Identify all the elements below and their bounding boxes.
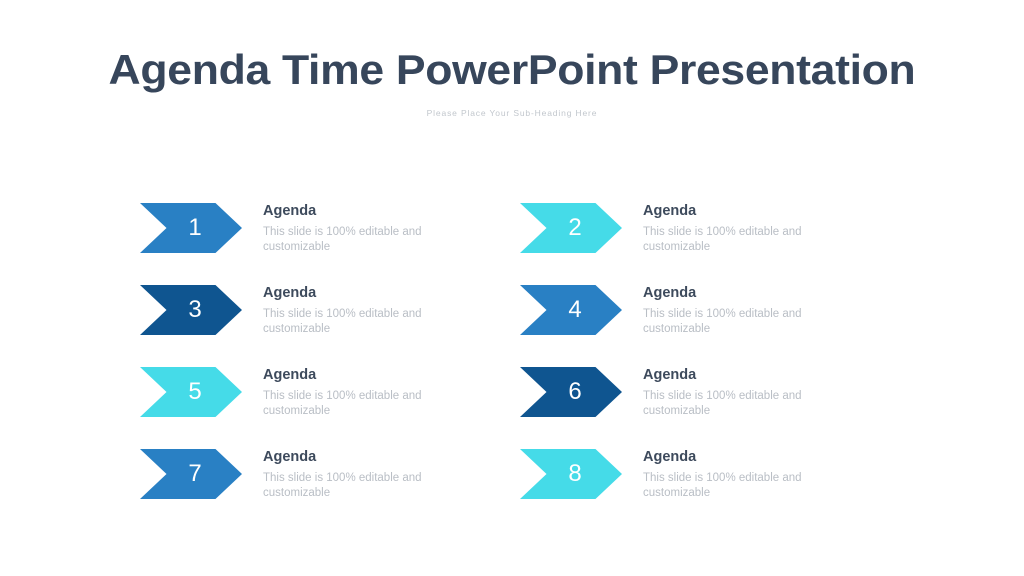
agenda-item-number: 7 bbox=[166, 449, 224, 499]
agenda-item[interactable]: 3AgendaThis slide is 100% editable and c… bbox=[140, 278, 520, 360]
agenda-item-number: 6 bbox=[546, 367, 604, 417]
agenda-item-heading: Agenda bbox=[643, 202, 900, 221]
agenda-item-text: AgendaThis slide is 100% editable and cu… bbox=[622, 196, 900, 255]
chevron-arrow-icon: 7 bbox=[140, 449, 242, 499]
agenda-item-body: This slide is 100% editable and customiz… bbox=[643, 225, 823, 255]
agenda-item-text: AgendaThis slide is 100% editable and cu… bbox=[622, 360, 900, 419]
agenda-item-number: 3 bbox=[166, 285, 224, 335]
chevron-arrow-icon: 8 bbox=[520, 449, 622, 499]
agenda-item[interactable]: 8AgendaThis slide is 100% editable and c… bbox=[520, 442, 900, 524]
agenda-item[interactable]: 1AgendaThis slide is 100% editable and c… bbox=[140, 196, 520, 278]
agenda-item-body: This slide is 100% editable and customiz… bbox=[263, 307, 443, 337]
chevron-arrow-icon: 4 bbox=[520, 285, 622, 335]
agenda-item-number: 8 bbox=[546, 449, 604, 499]
agenda-item-body: This slide is 100% editable and customiz… bbox=[643, 389, 823, 419]
agenda-item[interactable]: 2AgendaThis slide is 100% editable and c… bbox=[520, 196, 900, 278]
agenda-item-body: This slide is 100% editable and customiz… bbox=[643, 471, 823, 501]
chevron-arrow-icon: 2 bbox=[520, 203, 622, 253]
agenda-item-body: This slide is 100% editable and customiz… bbox=[263, 225, 443, 255]
agenda-item-number: 5 bbox=[166, 367, 224, 417]
page-title: Agenda Time PowerPoint Presentation bbox=[0, 44, 1024, 96]
slide-header: Agenda Time PowerPoint Presentation Plea… bbox=[0, 44, 1024, 119]
agenda-item-body: This slide is 100% editable and customiz… bbox=[263, 471, 443, 501]
agenda-item[interactable]: 7AgendaThis slide is 100% editable and c… bbox=[140, 442, 520, 524]
slide-canvas: Agenda Time PowerPoint Presentation Plea… bbox=[0, 0, 1024, 576]
agenda-item-heading: Agenda bbox=[643, 366, 900, 385]
chevron-arrow-icon: 1 bbox=[140, 203, 242, 253]
agenda-item-number: 4 bbox=[546, 285, 604, 335]
agenda-item-text: AgendaThis slide is 100% editable and cu… bbox=[242, 278, 520, 337]
agenda-item-body: This slide is 100% editable and customiz… bbox=[263, 389, 443, 419]
agenda-item-number: 1 bbox=[166, 203, 224, 253]
agenda-grid: 1AgendaThis slide is 100% editable and c… bbox=[140, 196, 900, 524]
agenda-item[interactable]: 5AgendaThis slide is 100% editable and c… bbox=[140, 360, 520, 442]
agenda-item-heading: Agenda bbox=[263, 448, 520, 467]
agenda-item-heading: Agenda bbox=[643, 448, 900, 467]
agenda-item-text: AgendaThis slide is 100% editable and cu… bbox=[622, 442, 900, 501]
agenda-item[interactable]: 6AgendaThis slide is 100% editable and c… bbox=[520, 360, 900, 442]
agenda-item-text: AgendaThis slide is 100% editable and cu… bbox=[242, 360, 520, 419]
agenda-item-heading: Agenda bbox=[263, 202, 520, 221]
agenda-item-heading: Agenda bbox=[263, 284, 520, 303]
agenda-item-text: AgendaThis slide is 100% editable and cu… bbox=[242, 442, 520, 501]
agenda-item-body: This slide is 100% editable and customiz… bbox=[643, 307, 823, 337]
agenda-item-text: AgendaThis slide is 100% editable and cu… bbox=[242, 196, 520, 255]
agenda-item-number: 2 bbox=[546, 203, 604, 253]
chevron-arrow-icon: 5 bbox=[140, 367, 242, 417]
chevron-arrow-icon: 6 bbox=[520, 367, 622, 417]
agenda-item-text: AgendaThis slide is 100% editable and cu… bbox=[622, 278, 900, 337]
agenda-item[interactable]: 4AgendaThis slide is 100% editable and c… bbox=[520, 278, 900, 360]
page-subtitle: Please Place Your Sub-Heading Here bbox=[0, 108, 1024, 119]
agenda-item-heading: Agenda bbox=[643, 284, 900, 303]
chevron-arrow-icon: 3 bbox=[140, 285, 242, 335]
agenda-item-heading: Agenda bbox=[263, 366, 520, 385]
